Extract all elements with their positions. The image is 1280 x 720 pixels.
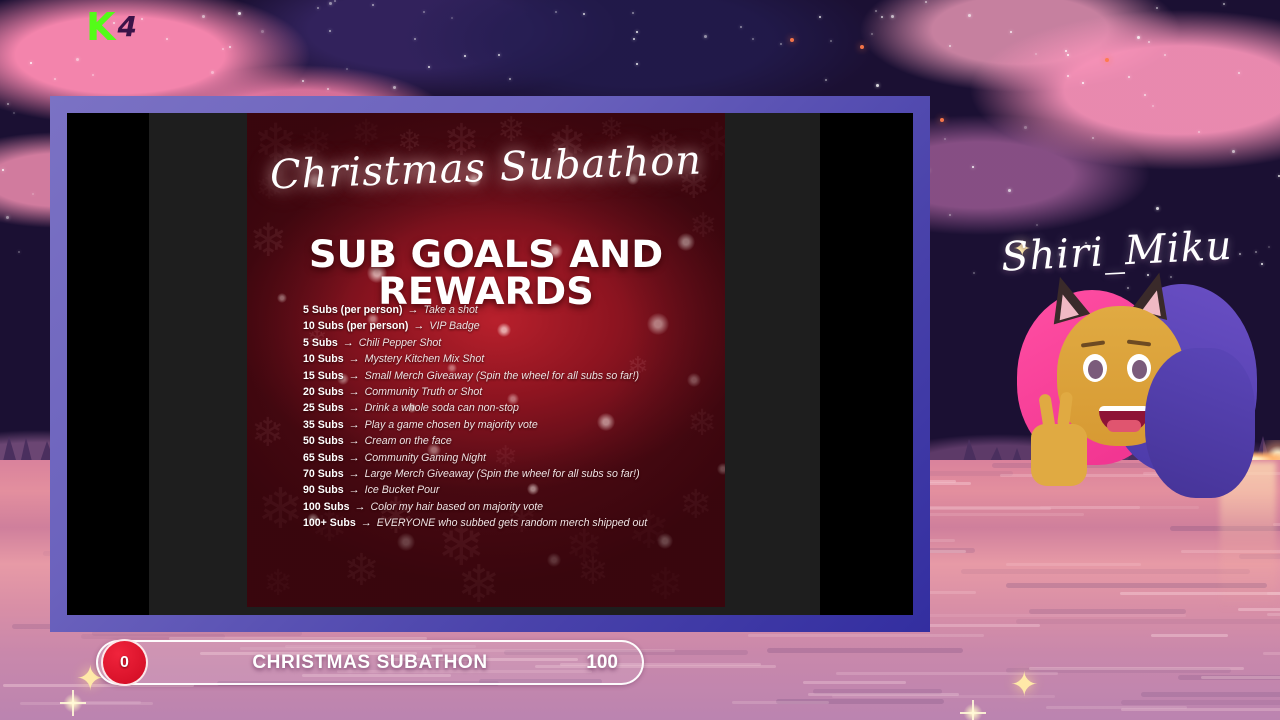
sub-goal-reward: Mystery Kitchen Mix Shot xyxy=(365,351,485,367)
sub-goal-row: 20 Subs→Community Truth or Shot xyxy=(303,384,711,400)
sub-goal-row: 35 Subs→Play a game chosen by majority v… xyxy=(303,417,711,433)
stream-player-frame: ❄❄❄❄❄❄❄❄❄❄❄❄❄❄❄❄❄❄❄❄❄❄❄❄❄❄❄❄❄❄❄❄ Christm… xyxy=(50,96,930,632)
sub-goal-reward: Large Merch Giveaway (Spin the wheel for… xyxy=(365,466,640,482)
sub-goal-reward: Chili Pepper Shot xyxy=(359,335,441,351)
kick-k-icon: K xyxy=(86,8,113,46)
player-black-bar-right xyxy=(820,113,913,615)
sub-goal-tier: 15 Subs xyxy=(303,368,344,384)
sub-goal-tier: 5 Subs (per person) xyxy=(303,302,402,318)
arrow-icon: → xyxy=(349,384,360,400)
sub-goal-row: 90 Subs→Ice Bucket Pour xyxy=(303,482,711,498)
sub-goal-reward: Community Truth or Shot xyxy=(365,384,483,400)
sub-goal-reward: Community Gaming Night xyxy=(365,450,486,466)
progress-title: CHRISTMAS SUBATHON xyxy=(96,640,644,685)
player-pillarbox-left xyxy=(149,113,247,615)
sub-goal-tier: 20 Subs xyxy=(303,384,344,400)
sub-goal-tier: 100+ Subs xyxy=(303,515,356,531)
arrow-icon: → xyxy=(407,302,418,318)
arrow-icon: → xyxy=(349,417,360,433)
arrow-icon: → xyxy=(355,499,366,515)
sub-goal-row: 5 Subs (per person)→Take a shot xyxy=(303,302,711,318)
sub-goal-row: 70 Subs→Large Merch Giveaway (Spin the w… xyxy=(303,466,711,482)
sub-goal-row: 10 Subs→Mystery Kitchen Mix Shot xyxy=(303,351,711,367)
kick-logo[interactable]: K 4 xyxy=(86,6,152,48)
subathon-poster: ❄❄❄❄❄❄❄❄❄❄❄❄❄❄❄❄❄❄❄❄❄❄❄❄❄❄❄❄❄❄❄❄ Christm… xyxy=(247,113,725,607)
sub-goal-reward: Color my hair based on majority vote xyxy=(371,499,544,515)
arrow-icon: → xyxy=(349,368,360,384)
sub-goal-row: 100+ Subs→EVERYONE who subbed gets rando… xyxy=(303,515,711,531)
arrow-icon: → xyxy=(343,335,354,351)
avatar-pupil-right xyxy=(1132,360,1147,379)
sub-goal-tier: 50 Subs xyxy=(303,433,344,449)
poster-headline: SUB GOALS AND REWARDS xyxy=(247,236,725,310)
sub-goal-row: 5 Subs→Chili Pepper Shot xyxy=(303,335,711,351)
sub-goal-row: 50 Subs→Cream on the face xyxy=(303,433,711,449)
stream-player-content[interactable]: ❄❄❄❄❄❄❄❄❄❄❄❄❄❄❄❄❄❄❄❄❄❄❄❄❄❄❄❄❄❄❄❄ Christm… xyxy=(67,113,913,615)
sub-goal-tier: 25 Subs xyxy=(303,400,344,416)
arrow-icon: → xyxy=(349,400,360,416)
stream-overlay-stage: ✦ ✦ ✦ K 4 Shiri_Miku xyxy=(0,0,1280,720)
avatar-tongue xyxy=(1107,420,1141,432)
sub-goal-reward: Small Merch Giveaway (Spin the wheel for… xyxy=(365,368,639,384)
avatar-pupil-left xyxy=(1088,360,1103,379)
player-pillarbox-right xyxy=(720,113,820,615)
sub-goal-tier: 35 Subs xyxy=(303,417,344,433)
arrow-icon: → xyxy=(349,433,360,449)
progress-current-value: 0 xyxy=(120,654,129,672)
sub-goal-tier: 5 Subs xyxy=(303,335,338,351)
sub-goal-reward: EVERYONE who subbed gets random merch sh… xyxy=(377,515,647,531)
sub-goal-tier: 100 Subs xyxy=(303,499,350,515)
sub-goals-list: 5 Subs (per person)→Take a shot10 Subs (… xyxy=(303,302,711,532)
arrow-icon: → xyxy=(349,351,360,367)
arrow-icon: → xyxy=(349,482,360,498)
peace-sign-hand-icon xyxy=(1031,424,1087,486)
sub-goal-reward: Drink a whole soda can non-stop xyxy=(365,400,519,416)
sub-goal-row: 100 Subs→Color my hair based on majority… xyxy=(303,499,711,515)
sub-goal-tier: 65 Subs xyxy=(303,450,344,466)
arrow-icon: → xyxy=(349,466,360,482)
arrow-icon: → xyxy=(349,450,360,466)
sub-goal-row: 25 Subs→Drink a whole soda can non-stop xyxy=(303,400,711,416)
sub-goal-tier: 10 Subs (per person) xyxy=(303,318,408,334)
sub-goal-reward: VIP Badge xyxy=(429,318,479,334)
progress-max-value: 100 xyxy=(586,640,618,685)
progress-current-knob: 0 xyxy=(101,639,148,686)
player-black-bar-left xyxy=(67,113,149,615)
arrow-icon: → xyxy=(361,515,372,531)
sub-goal-tier: 90 Subs xyxy=(303,482,344,498)
sub-goal-tier: 10 Subs xyxy=(303,351,344,367)
sub-goal-tier: 70 Subs xyxy=(303,466,344,482)
sub-goal-reward: Ice Bucket Pour xyxy=(365,482,440,498)
kick-badge-number: 4 xyxy=(117,13,136,41)
player-letterbox-bottom xyxy=(149,607,820,615)
avatar-hair-strand xyxy=(1145,348,1255,498)
sub-goal-reward: Play a game chosen by majority vote xyxy=(365,417,538,433)
sub-goal-row: 65 Subs→Community Gaming Night xyxy=(303,450,711,466)
streamer-name: Shiri_Miku xyxy=(1000,221,1262,281)
sub-goal-row: 15 Subs→Small Merch Giveaway (Spin the w… xyxy=(303,368,711,384)
sub-goal-reward: Take a shot xyxy=(423,302,477,318)
subathon-progress-bar: CHRISTMAS SUBATHON 100 0 xyxy=(96,640,644,685)
arrow-icon: → xyxy=(413,318,424,334)
sub-goal-row: 10 Subs (per person)→VIP Badge xyxy=(303,318,711,334)
sub-goal-reward: Cream on the face xyxy=(365,433,452,449)
avatar: Shiri_Miku xyxy=(995,228,1265,498)
star-glow-icon: ✦ xyxy=(1010,668,1039,702)
